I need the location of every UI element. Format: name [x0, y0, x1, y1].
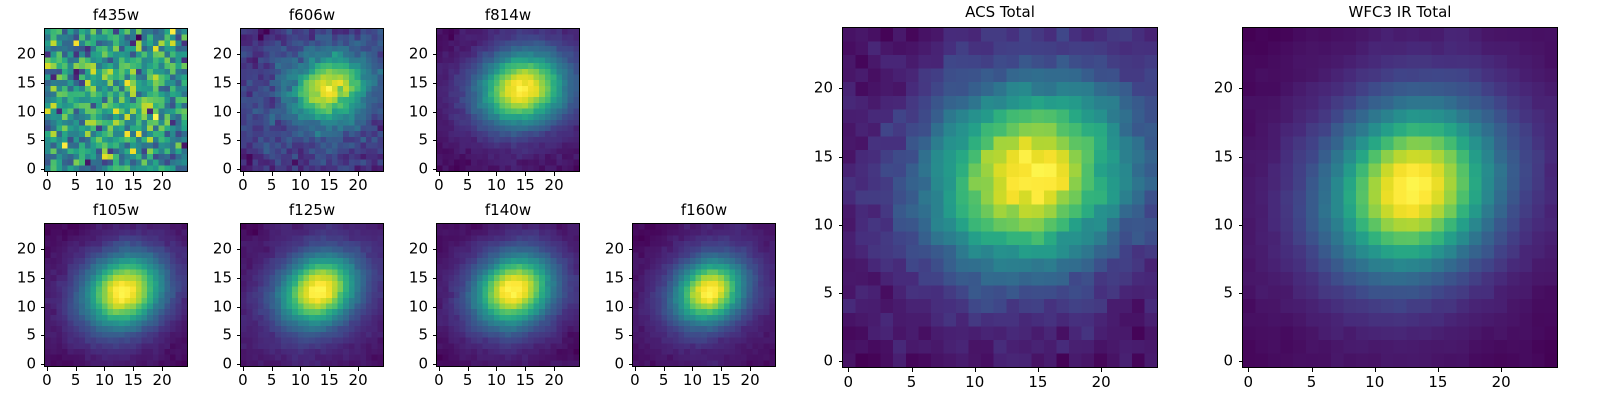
axes-wfc3-ir-total	[1242, 27, 1558, 368]
yticklabel-f105w-1: 5	[26, 328, 36, 343]
figure-canvas: f435w0510152005101520f606w05101520051015…	[0, 0, 1600, 400]
xticklabel-wfc3-ir-total-4: 20	[1492, 375, 1511, 390]
panel-f140w: f140w0510152005101520	[436, 223, 580, 367]
xticklabel-f814w-4: 20	[545, 178, 564, 193]
yticklabel-f606w-1: 5	[222, 133, 232, 148]
yticklabel-acs-total-1: 5	[823, 285, 833, 300]
xtick-f435w-4	[162, 172, 163, 176]
xticklabel-f435w-1: 5	[71, 178, 81, 193]
heatmap-image-wfc3-ir-total	[1243, 28, 1557, 367]
panel-title-f435w: f435w	[44, 8, 188, 23]
xtick-f105w-3	[133, 367, 134, 371]
xtick-f435w-2	[104, 172, 105, 176]
axes-f140w	[436, 223, 580, 367]
yticklabel-f435w-3: 15	[17, 75, 36, 90]
ytick-f435w-4	[41, 54, 45, 55]
xticklabel-acs-total-0: 0	[844, 375, 854, 390]
panel-f814w: f814w0510152005101520	[436, 28, 580, 172]
ytick-f105w-3	[41, 278, 45, 279]
xticklabel-f606w-1: 5	[267, 178, 277, 193]
xtick-acs-total-3	[1038, 368, 1039, 372]
xticklabel-f160w-1: 5	[659, 373, 669, 388]
yticklabel-f140w-1: 5	[418, 328, 428, 343]
xticklabel-f435w-0: 0	[42, 178, 52, 193]
yticklabel-wfc3-ir-total-3: 15	[1214, 149, 1233, 164]
ytick-f814w-2	[433, 112, 437, 113]
ytick-acs-total-2	[839, 225, 843, 226]
yticklabel-f606w-0: 0	[222, 162, 232, 177]
heatmap-image-f160w	[633, 224, 775, 366]
yticklabel-acs-total-3: 15	[814, 149, 833, 164]
ytick-f140w-0	[433, 364, 437, 365]
panel-title-f814w: f814w	[436, 8, 580, 23]
xtick-f125w-4	[358, 367, 359, 371]
xticklabel-f606w-2: 10	[291, 178, 310, 193]
xtick-f105w-1	[76, 367, 77, 371]
xticklabel-f435w-4: 20	[153, 178, 172, 193]
xtick-f105w-4	[162, 367, 163, 371]
xtick-f606w-2	[300, 172, 301, 176]
panel-f606w: f606w0510152005101520	[240, 28, 384, 172]
ytick-f435w-3	[41, 83, 45, 84]
xtick-acs-total-0	[848, 368, 849, 372]
yticklabel-f125w-2: 10	[213, 299, 232, 314]
xticklabel-f140w-2: 10	[487, 373, 506, 388]
yticklabel-f814w-1: 5	[418, 133, 428, 148]
ytick-wfc3-ir-total-0	[1239, 361, 1243, 362]
xticklabel-f140w-4: 20	[545, 373, 564, 388]
xticklabel-f125w-2: 10	[291, 373, 310, 388]
xticklabel-f105w-0: 0	[42, 373, 52, 388]
panel-acs-total: ACS Total0510152005101520	[842, 27, 1158, 368]
yticklabel-f125w-0: 0	[222, 357, 232, 372]
ytick-f606w-0	[237, 169, 241, 170]
heatmap-image-f105w	[45, 224, 187, 366]
xtick-f606w-3	[329, 172, 330, 176]
xticklabel-acs-total-3: 15	[1028, 375, 1047, 390]
ytick-f125w-1	[237, 335, 241, 336]
xticklabel-f606w-3: 15	[320, 178, 339, 193]
yticklabel-acs-total-0: 0	[823, 354, 833, 369]
xticklabel-f125w-3: 15	[320, 373, 339, 388]
xtick-acs-total-1	[912, 368, 913, 372]
yticklabel-f140w-0: 0	[418, 357, 428, 372]
yticklabel-wfc3-ir-total-1: 5	[1223, 285, 1233, 300]
heatmap-image-f814w	[437, 29, 579, 171]
heatmap-image-f606w	[241, 29, 383, 171]
ytick-f140w-2	[433, 307, 437, 308]
ytick-wfc3-ir-total-3	[1239, 157, 1243, 158]
panel-title-acs-total: ACS Total	[842, 5, 1158, 20]
yticklabel-f125w-1: 5	[222, 328, 232, 343]
panel-title-f160w: f160w	[632, 203, 776, 218]
yticklabel-f160w-0: 0	[614, 357, 624, 372]
xtick-f606w-0	[243, 172, 244, 176]
yticklabel-f105w-2: 10	[17, 299, 36, 314]
axes-f160w	[632, 223, 776, 367]
ytick-acs-total-1	[839, 293, 843, 294]
yticklabel-f140w-2: 10	[409, 299, 428, 314]
xtick-f606w-1	[272, 172, 273, 176]
heatmap-image-acs-total	[843, 28, 1157, 367]
xtick-f140w-3	[525, 367, 526, 371]
yticklabel-f435w-4: 20	[17, 46, 36, 61]
xticklabel-f814w-1: 5	[463, 178, 473, 193]
xtick-f814w-4	[554, 172, 555, 176]
yticklabel-f140w-3: 15	[409, 270, 428, 285]
xticklabel-wfc3-ir-total-0: 0	[1244, 375, 1254, 390]
panel-title-f125w: f125w	[240, 203, 384, 218]
axes-f125w	[240, 223, 384, 367]
xticklabel-f140w-0: 0	[434, 373, 444, 388]
yticklabel-f105w-0: 0	[26, 357, 36, 372]
yticklabel-f140w-4: 20	[409, 241, 428, 256]
xticklabel-f435w-3: 15	[124, 178, 143, 193]
yticklabel-f160w-4: 20	[605, 241, 624, 256]
xtick-f125w-2	[300, 367, 301, 371]
yticklabel-wfc3-ir-total-4: 20	[1214, 81, 1233, 96]
xticklabel-acs-total-1: 5	[907, 375, 917, 390]
xtick-wfc3-ir-total-2	[1375, 368, 1376, 372]
xtick-f814w-0	[439, 172, 440, 176]
xticklabel-f125w-4: 20	[349, 373, 368, 388]
ytick-f140w-1	[433, 335, 437, 336]
ytick-f160w-1	[629, 335, 633, 336]
xticklabel-f435w-2: 10	[95, 178, 114, 193]
ytick-f125w-0	[237, 364, 241, 365]
ytick-f160w-3	[629, 278, 633, 279]
axes-f435w	[44, 28, 188, 172]
yticklabel-f606w-2: 10	[213, 104, 232, 119]
axes-f606w	[240, 28, 384, 172]
ytick-acs-total-4	[839, 88, 843, 89]
xticklabel-f140w-1: 5	[463, 373, 473, 388]
heatmap-image-f435w	[45, 29, 187, 171]
xticklabel-f814w-2: 10	[487, 178, 506, 193]
panel-title-f105w: f105w	[44, 203, 188, 218]
xticklabel-wfc3-ir-total-2: 10	[1365, 375, 1384, 390]
xticklabel-acs-total-4: 20	[1092, 375, 1111, 390]
yticklabel-f160w-1: 5	[614, 328, 624, 343]
axes-f814w	[436, 28, 580, 172]
ytick-f160w-2	[629, 307, 633, 308]
xtick-f814w-2	[496, 172, 497, 176]
yticklabel-f125w-3: 15	[213, 270, 232, 285]
panel-wfc3-ir-total: WFC3 IR Total0510152005101520	[1242, 27, 1558, 368]
yticklabel-acs-total-2: 10	[814, 217, 833, 232]
panel-f435w: f435w0510152005101520	[44, 28, 188, 172]
xticklabel-f105w-4: 20	[153, 373, 172, 388]
yticklabel-f814w-3: 15	[409, 75, 428, 90]
yticklabel-f160w-3: 15	[605, 270, 624, 285]
xtick-f160w-2	[692, 367, 693, 371]
ytick-f435w-0	[41, 169, 45, 170]
ytick-f160w-4	[629, 249, 633, 250]
ytick-acs-total-0	[839, 361, 843, 362]
ytick-f105w-4	[41, 249, 45, 250]
yticklabel-f814w-0: 0	[418, 162, 428, 177]
xticklabel-f606w-0: 0	[238, 178, 248, 193]
heatmap-image-f140w	[437, 224, 579, 366]
panel-title-f606w: f606w	[240, 8, 384, 23]
ytick-f606w-2	[237, 112, 241, 113]
yticklabel-f125w-4: 20	[213, 241, 232, 256]
xtick-f160w-4	[750, 367, 751, 371]
xtick-wfc3-ir-total-0	[1248, 368, 1249, 372]
xtick-f160w-0	[635, 367, 636, 371]
xtick-f140w-0	[439, 367, 440, 371]
xtick-f814w-1	[468, 172, 469, 176]
xticklabel-f814w-0: 0	[434, 178, 444, 193]
xticklabel-acs-total-2: 10	[965, 375, 984, 390]
ytick-f140w-4	[433, 249, 437, 250]
panel-title-f140w: f140w	[436, 203, 580, 218]
ytick-f140w-3	[433, 278, 437, 279]
ytick-f814w-4	[433, 54, 437, 55]
xticklabel-f160w-0: 0	[630, 373, 640, 388]
ytick-f105w-2	[41, 307, 45, 308]
xtick-f435w-0	[47, 172, 48, 176]
panel-f105w: f105w0510152005101520	[44, 223, 188, 367]
xtick-f125w-3	[329, 367, 330, 371]
xticklabel-wfc3-ir-total-1: 5	[1307, 375, 1317, 390]
xtick-f435w-3	[133, 172, 134, 176]
yticklabel-wfc3-ir-total-2: 10	[1214, 217, 1233, 232]
ytick-f814w-3	[433, 83, 437, 84]
yticklabel-f435w-2: 10	[17, 104, 36, 119]
yticklabel-f435w-1: 5	[26, 133, 36, 148]
xtick-acs-total-4	[1101, 368, 1102, 372]
ytick-f606w-4	[237, 54, 241, 55]
yticklabel-f814w-4: 20	[409, 46, 428, 61]
ytick-f606w-3	[237, 83, 241, 84]
xticklabel-f105w-2: 10	[95, 373, 114, 388]
xtick-f105w-0	[47, 367, 48, 371]
ytick-wfc3-ir-total-1	[1239, 293, 1243, 294]
yticklabel-wfc3-ir-total-0: 0	[1223, 354, 1233, 369]
yticklabel-f160w-2: 10	[605, 299, 624, 314]
ytick-f435w-2	[41, 112, 45, 113]
xtick-f140w-4	[554, 367, 555, 371]
xtick-f435w-1	[76, 172, 77, 176]
ytick-f814w-0	[433, 169, 437, 170]
xticklabel-f814w-3: 15	[516, 178, 535, 193]
yticklabel-f435w-0: 0	[26, 162, 36, 177]
xtick-f160w-3	[721, 367, 722, 371]
axes-acs-total	[842, 27, 1158, 368]
xticklabel-f140w-3: 15	[516, 373, 535, 388]
heatmap-image-f125w	[241, 224, 383, 366]
ytick-acs-total-3	[839, 157, 843, 158]
xticklabel-f160w-2: 10	[683, 373, 702, 388]
xtick-acs-total-2	[975, 368, 976, 372]
xtick-wfc3-ir-total-1	[1312, 368, 1313, 372]
panel-f125w: f125w0510152005101520	[240, 223, 384, 367]
ytick-wfc3-ir-total-2	[1239, 225, 1243, 226]
ytick-f105w-1	[41, 335, 45, 336]
xtick-f606w-4	[358, 172, 359, 176]
yticklabel-f606w-4: 20	[213, 46, 232, 61]
xticklabel-f606w-4: 20	[349, 178, 368, 193]
axes-f105w	[44, 223, 188, 367]
yticklabel-f814w-2: 10	[409, 104, 428, 119]
ytick-f125w-4	[237, 249, 241, 250]
panel-title-wfc3-ir-total: WFC3 IR Total	[1242, 5, 1558, 20]
xtick-f140w-1	[468, 367, 469, 371]
xtick-f160w-1	[664, 367, 665, 371]
xtick-f105w-2	[104, 367, 105, 371]
xticklabel-wfc3-ir-total-3: 15	[1428, 375, 1447, 390]
xtick-f140w-2	[496, 367, 497, 371]
ytick-f105w-0	[41, 364, 45, 365]
xticklabel-f125w-0: 0	[238, 373, 248, 388]
ytick-wfc3-ir-total-4	[1239, 88, 1243, 89]
xtick-f125w-0	[243, 367, 244, 371]
xtick-f814w-3	[525, 172, 526, 176]
yticklabel-f105w-4: 20	[17, 241, 36, 256]
panel-f160w: f160w0510152005101520	[632, 223, 776, 367]
xticklabel-f125w-1: 5	[267, 373, 277, 388]
ytick-f125w-2	[237, 307, 241, 308]
xticklabel-f105w-3: 15	[124, 373, 143, 388]
xticklabel-f160w-3: 15	[712, 373, 731, 388]
ytick-f435w-1	[41, 140, 45, 141]
ytick-f125w-3	[237, 278, 241, 279]
xtick-wfc3-ir-total-3	[1438, 368, 1439, 372]
xticklabel-f160w-4: 20	[741, 373, 760, 388]
ytick-f814w-1	[433, 140, 437, 141]
xticklabel-f105w-1: 5	[71, 373, 81, 388]
ytick-f606w-1	[237, 140, 241, 141]
ytick-f160w-0	[629, 364, 633, 365]
xtick-wfc3-ir-total-4	[1501, 368, 1502, 372]
yticklabel-f606w-3: 15	[213, 75, 232, 90]
xtick-f125w-1	[272, 367, 273, 371]
yticklabel-f105w-3: 15	[17, 270, 36, 285]
yticklabel-acs-total-4: 20	[814, 81, 833, 96]
